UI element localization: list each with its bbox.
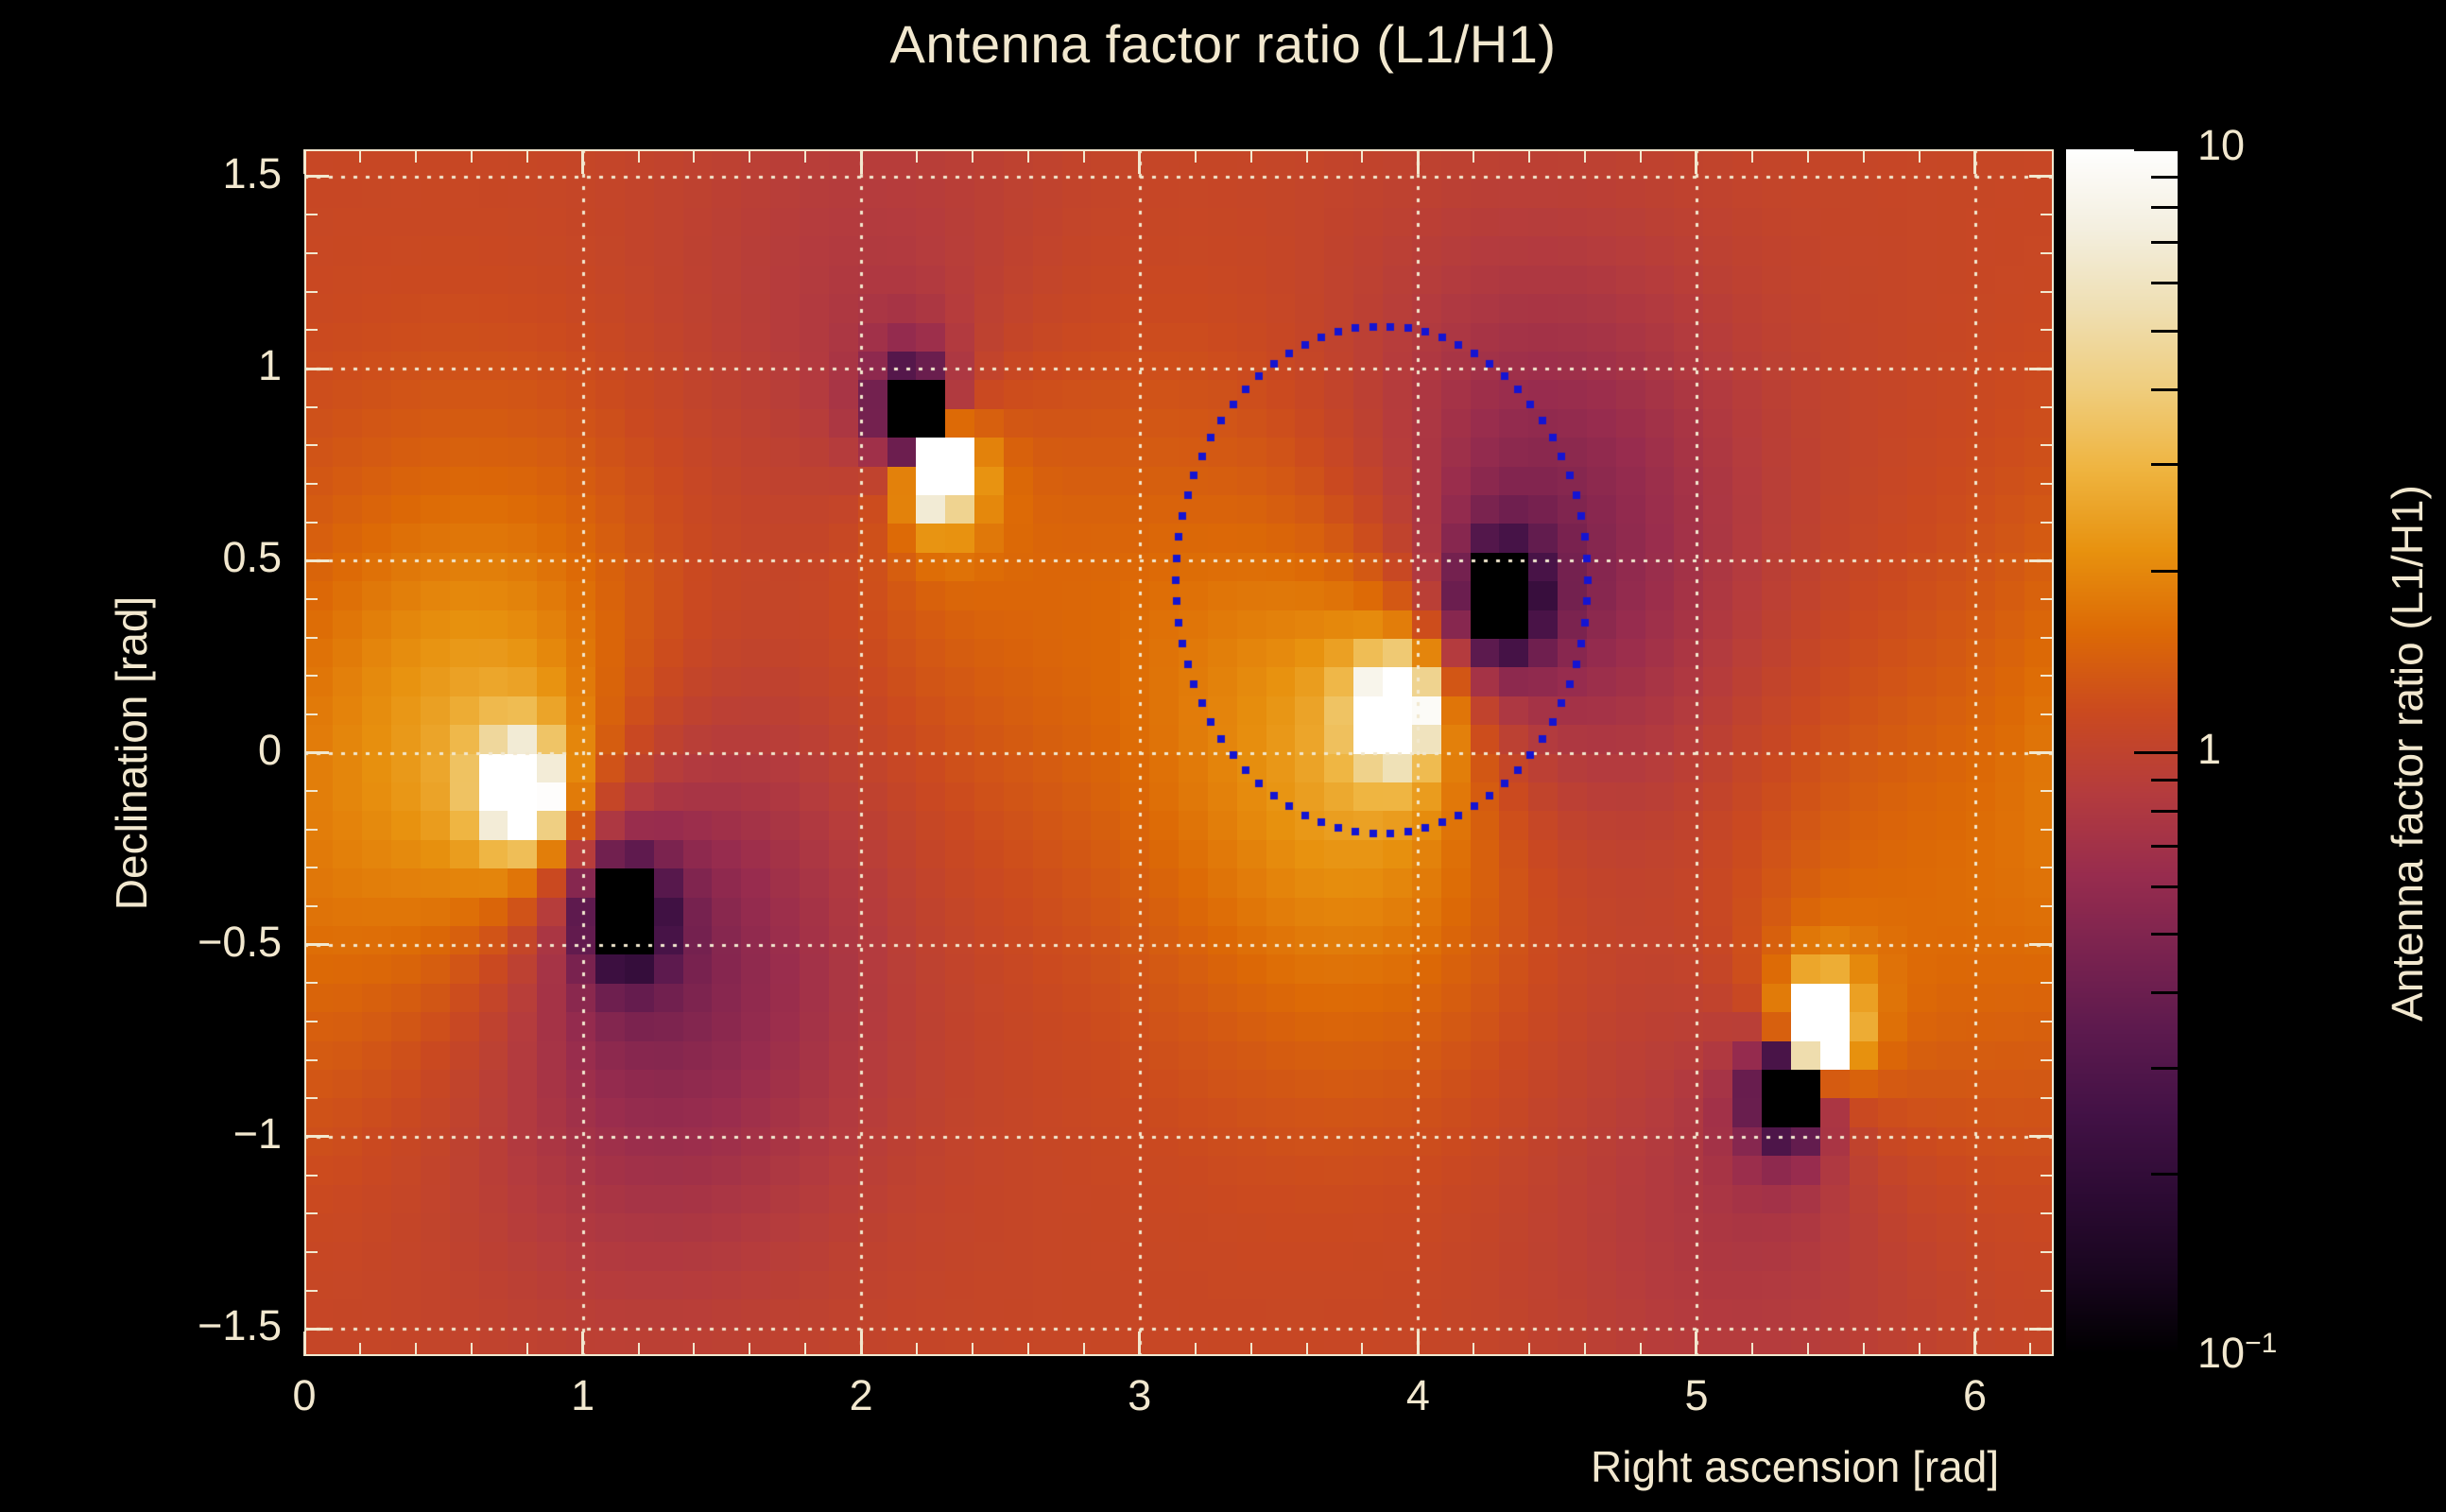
x-axis-tick <box>860 1332 863 1356</box>
colorbar-minor-tick <box>2151 1173 2178 1176</box>
y-axis-minor-tick <box>304 252 318 254</box>
y-axis-tick <box>304 1135 329 1138</box>
x-axis-minor-tick-top <box>749 149 750 163</box>
x-axis-minor-tick-top <box>1640 149 1642 163</box>
y-axis-minor-tick <box>304 637 318 639</box>
x-axis-minor-tick-top <box>1306 149 1308 163</box>
colorbar-major-tick <box>2134 148 2178 151</box>
x-axis-minor-tick <box>1361 1343 1363 1356</box>
x-axis-minor-tick-top <box>638 149 640 163</box>
x-axis-tick-label: 2 <box>804 1371 918 1420</box>
y-axis-minor-tick-right <box>2041 1097 2054 1099</box>
y-axis-minor-tick-right <box>2041 713 2054 715</box>
x-axis-minor-tick-top <box>1027 149 1029 163</box>
colorbar-tick-label: 1 <box>2197 725 2221 774</box>
x-axis-tick-top <box>1138 149 1141 174</box>
x-axis-minor-tick <box>1640 1343 1642 1356</box>
y-axis-tick <box>304 175 329 178</box>
y-axis-minor-tick-right <box>2041 291 2054 293</box>
x-axis-title: Right ascension [rad] <box>1591 1441 1999 1492</box>
y-axis-minor-tick-right <box>2041 1059 2054 1061</box>
y-axis-minor-tick <box>304 406 318 408</box>
y-axis-minor-tick-right <box>2041 329 2054 331</box>
y-axis-minor-tick-right <box>2041 483 2054 485</box>
y-axis-tick-right <box>2029 368 2054 370</box>
colorbar-title: Antenna factor ratio (L1/H1) <box>2382 485 2433 1022</box>
y-axis-minor-tick-right <box>2041 905 2054 907</box>
colorbar-major-tick <box>2134 751 2178 754</box>
y-axis-minor-tick-right <box>2041 444 2054 446</box>
x-axis-minor-tick-top <box>526 149 528 163</box>
colorbar-minor-tick <box>2151 779 2178 782</box>
y-axis-tick-label: −1.5 <box>198 1301 282 1350</box>
y-axis-tick-label: −1 <box>233 1109 282 1159</box>
y-axis-tick-label: 1 <box>258 341 282 390</box>
y-axis-minor-tick <box>304 1251 318 1253</box>
y-axis-minor-tick <box>304 905 318 907</box>
y-axis-minor-tick-right <box>2041 1251 2054 1253</box>
x-axis-tick <box>1417 1332 1420 1356</box>
colorbar-minor-tick <box>2151 885 2178 888</box>
x-axis-minor-tick <box>526 1343 528 1356</box>
x-axis-minor-tick-top <box>1807 149 1809 163</box>
x-axis-tick-top <box>860 149 863 174</box>
y-axis-tick-right <box>2029 1328 2054 1331</box>
y-axis-minor-tick <box>304 483 318 485</box>
x-axis-tick-label: 0 <box>248 1371 361 1420</box>
x-axis-minor-tick <box>638 1343 640 1356</box>
x-axis-minor-tick <box>1584 1343 1586 1356</box>
x-axis-minor-tick <box>916 1343 918 1356</box>
x-axis-minor-tick <box>1919 1343 1921 1356</box>
y-axis-minor-tick <box>304 1290 318 1292</box>
y-axis-tick-label: 0.5 <box>222 533 282 582</box>
x-axis-minor-tick <box>1473 1343 1474 1356</box>
x-axis-tick-top <box>1417 149 1420 174</box>
x-axis-tick-label: 1 <box>526 1371 640 1420</box>
colorbar[interactable] <box>2066 149 2178 1356</box>
y-axis-minor-tick-right <box>2041 637 2054 639</box>
x-axis-minor-tick-top <box>1751 149 1753 163</box>
x-axis-minor-tick-top <box>1528 149 1530 163</box>
x-axis-minor-tick <box>804 1343 806 1356</box>
colorbar-minor-tick <box>2151 206 2178 209</box>
x-axis-minor-tick <box>1807 1343 1809 1356</box>
x-axis-minor-tick-top <box>1361 149 1363 163</box>
figure-canvas: Antenna factor ratio (L1/H1) 1.510.50−0.… <box>0 0 2446 1512</box>
x-axis-tick <box>1138 1332 1141 1356</box>
x-axis-tick-top <box>1695 149 1697 174</box>
x-axis-minor-tick-top <box>804 149 806 163</box>
y-axis-tick <box>304 368 329 370</box>
y-axis-tick-right <box>2029 175 2054 178</box>
colorbar-minor-tick <box>2151 810 2178 813</box>
x-axis-tick <box>1973 1332 1976 1356</box>
colorbar-tick-label: 10 <box>2197 121 2245 170</box>
y-axis-minor-tick-right <box>2041 1021 2054 1022</box>
x-axis-minor-tick-top <box>1584 149 1586 163</box>
colorbar-minor-tick <box>2151 282 2178 284</box>
x-axis-minor-tick <box>1863 1343 1865 1356</box>
grid-and-contour-overlay <box>304 149 2054 1356</box>
x-axis-tick-top <box>581 149 584 174</box>
x-axis-minor-tick <box>1083 1343 1085 1356</box>
y-axis-minor-tick <box>304 329 318 331</box>
colorbar-minor-tick <box>2151 991 2178 994</box>
y-axis-minor-tick-right <box>2041 252 2054 254</box>
y-axis-minor-tick-right <box>2041 829 2054 831</box>
colorbar-minor-tick <box>2151 176 2178 179</box>
x-axis-tick <box>303 1332 306 1356</box>
x-axis-tick-label: 3 <box>1083 1371 1197 1420</box>
colorbar-minor-tick <box>2151 845 2178 848</box>
x-axis-minor-tick <box>2029 1343 2031 1356</box>
y-axis-tick-right <box>2029 559 2054 562</box>
x-axis-minor-tick-top <box>1919 149 1921 163</box>
y-axis-minor-tick-right <box>2041 790 2054 792</box>
y-axis-tick <box>304 559 329 562</box>
y-axis-minor-tick-right <box>2041 1290 2054 1292</box>
x-axis-minor-tick <box>749 1343 750 1356</box>
x-axis-minor-tick <box>1250 1343 1252 1356</box>
y-axis-tick <box>304 1328 329 1331</box>
y-axis-minor-tick <box>304 1212 318 1214</box>
x-axis-minor-tick <box>693 1343 695 1356</box>
y-axis-minor-tick-right <box>2041 598 2054 600</box>
x-axis-minor-tick-top <box>415 149 417 163</box>
heatmap-plot-area[interactable] <box>304 149 2054 1356</box>
y-axis-tick <box>304 751 329 754</box>
y-axis-tick-right <box>2029 1135 2054 1138</box>
colorbar-minor-tick <box>2151 241 2178 244</box>
x-axis-minor-tick <box>1306 1343 1308 1356</box>
y-axis-tick-label: −0.5 <box>198 918 282 967</box>
y-axis-minor-tick <box>304 675 318 677</box>
y-axis-minor-tick-right <box>2041 1175 2054 1177</box>
x-axis-minor-tick <box>359 1343 361 1356</box>
y-axis-title: Declination [rad] <box>106 595 157 909</box>
y-axis-minor-tick-right <box>2041 867 2054 868</box>
y-axis-minor-tick <box>304 291 318 293</box>
x-axis-minor-tick <box>471 1343 473 1356</box>
colorbar-minor-tick <box>2151 330 2178 333</box>
y-axis-minor-tick-right <box>2041 522 2054 524</box>
page-title: Antenna factor ratio (L1/H1) <box>0 13 2446 75</box>
x-axis-minor-tick-top <box>972 149 973 163</box>
x-axis-tick-label: 5 <box>1640 1371 1753 1420</box>
y-axis-minor-tick <box>304 444 318 446</box>
colorbar-minor-tick <box>2151 570 2178 573</box>
x-axis-minor-tick <box>1195 1343 1197 1356</box>
x-axis-minor-tick-top <box>1250 149 1252 163</box>
y-axis-minor-tick <box>304 713 318 715</box>
x-axis-minor-tick-top <box>1863 149 1865 163</box>
y-axis-minor-tick <box>304 1097 318 1099</box>
x-axis-minor-tick <box>1751 1343 1753 1356</box>
y-axis-minor-tick <box>304 522 318 524</box>
x-axis-minor-tick-top <box>1195 149 1197 163</box>
y-axis-tick-label: 0 <box>258 726 282 775</box>
y-axis-minor-tick-right <box>2041 214 2054 215</box>
y-axis-minor-tick-right <box>2041 406 2054 408</box>
x-axis-minor-tick-top <box>471 149 473 163</box>
y-axis-minor-tick <box>304 790 318 792</box>
x-axis-tick-top <box>303 149 306 174</box>
y-axis-tick-right <box>2029 943 2054 946</box>
colorbar-minor-tick <box>2151 933 2178 936</box>
x-axis-tick <box>1695 1332 1697 1356</box>
x-axis-tick <box>581 1332 584 1356</box>
x-axis-minor-tick-top <box>693 149 695 163</box>
x-axis-minor-tick <box>1528 1343 1530 1356</box>
y-axis-minor-tick-right <box>2041 982 2054 984</box>
y-axis-minor-tick <box>304 829 318 831</box>
y-axis-tick-right <box>2029 751 2054 754</box>
y-axis-minor-tick-right <box>2041 1212 2054 1214</box>
x-axis-tick-label: 4 <box>1361 1371 1474 1420</box>
y-axis-minor-tick <box>304 867 318 868</box>
y-axis-minor-tick <box>304 1175 318 1177</box>
colorbar-minor-tick <box>2151 388 2178 391</box>
x-axis-minor-tick-top <box>359 149 361 163</box>
y-axis-minor-tick-right <box>2041 675 2054 677</box>
x-axis-minor-tick <box>415 1343 417 1356</box>
y-axis-minor-tick <box>304 598 318 600</box>
colorbar-major-tick <box>2134 1352 2178 1355</box>
y-axis-tick-label: 1.5 <box>222 149 282 198</box>
colorbar-tick-label: 10−1 <box>2197 1328 2277 1378</box>
x-axis-minor-tick <box>972 1343 973 1356</box>
y-axis-minor-tick <box>304 982 318 984</box>
y-axis-minor-tick <box>304 214 318 215</box>
colorbar-ticks <box>2066 149 2178 1356</box>
x-axis-minor-tick-top <box>1473 149 1474 163</box>
colorbar-minor-tick <box>2151 463 2178 466</box>
x-axis-minor-tick <box>1027 1343 1029 1356</box>
y-axis-minor-tick <box>304 1059 318 1061</box>
x-axis-minor-tick-top <box>916 149 918 163</box>
x-axis-tick-label: 6 <box>1919 1371 2032 1420</box>
x-axis-minor-tick-top <box>1083 149 1085 163</box>
colorbar-minor-tick <box>2151 1067 2178 1070</box>
y-axis-tick <box>304 943 329 946</box>
y-axis-minor-tick <box>304 1021 318 1022</box>
x-axis-tick-top <box>1973 149 1976 174</box>
